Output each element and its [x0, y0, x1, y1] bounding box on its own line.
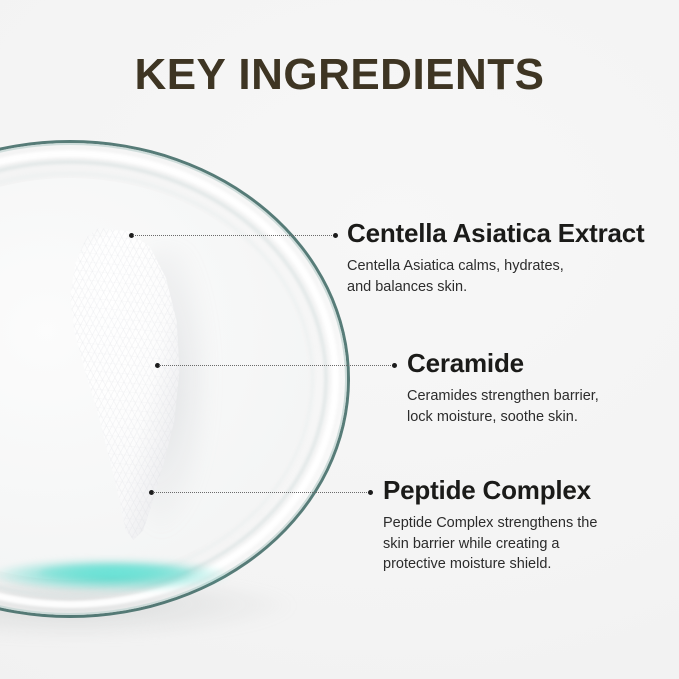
ingredient-name: Centella Asiatica Extract: [347, 220, 657, 247]
dish-teal-edge-right: [268, 290, 328, 500]
ingredient-name: Peptide Complex: [383, 477, 653, 504]
leader-line-centella: [129, 235, 338, 236]
leader-dot-target: [368, 490, 373, 495]
dish-teal-highlight-core: [40, 564, 190, 580]
ingredient-callout-peptide: Peptide Complex Peptide Complex strength…: [383, 477, 653, 575]
ingredient-callout-ceramide: Ceramide Ceramides strengthen barrier, l…: [407, 350, 657, 427]
key-ingredients-infographic: KEY INGREDIENTS Centella Asiatica Extrac…: [0, 0, 679, 679]
ingredient-callout-centella: Centella Asiatica Extract Centella Asiat…: [347, 220, 657, 297]
ingredient-description: Ceramides strengthen barrier, lock moist…: [407, 386, 657, 427]
ingredient-description: Peptide Complex strengthens the skin bar…: [383, 513, 653, 575]
leader-dotted-segment: [153, 492, 369, 494]
leader-line-peptide: [149, 492, 373, 493]
ingredient-name: Ceramide: [407, 350, 657, 377]
leader-dot-target: [333, 233, 338, 238]
ingredient-description: Centella Asiatica calms, hydrates, and b…: [347, 256, 657, 297]
leader-dotted-segment: [133, 235, 334, 237]
page-title: KEY INGREDIENTS: [0, 50, 679, 100]
leader-dotted-segment: [159, 365, 393, 367]
leader-dot-target: [392, 363, 397, 368]
leader-line-ceramide: [155, 365, 397, 366]
